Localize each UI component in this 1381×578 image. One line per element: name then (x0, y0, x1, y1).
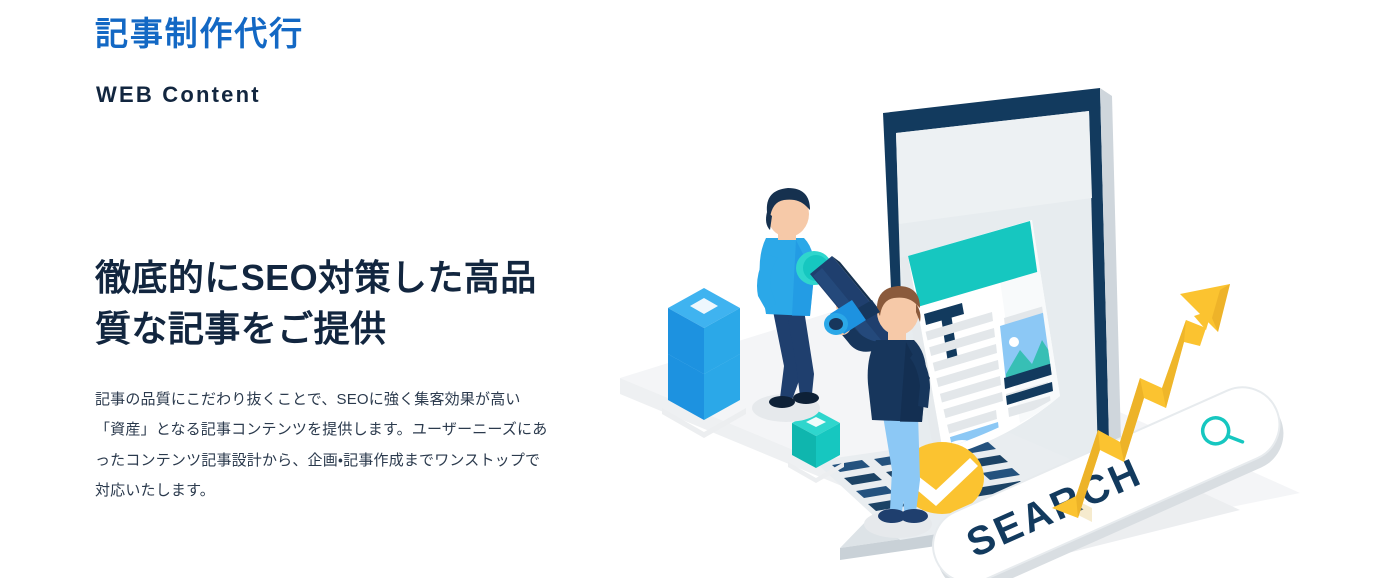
hero-illustration: SEARCH (600, 78, 1381, 578)
section-description: 記事の品質にこだわり抜くことで、SEOに強く集客効果が高い 「資産」となる記事コ… (95, 385, 600, 506)
headline-line-2: 質な記事をご提供 (95, 303, 595, 354)
section-eyebrow: 記事制作代行 (95, 14, 304, 54)
page-root: 記事制作代行 WEB Content 徹底的にSEO対策した高品 質な記事をご提… (0, 0, 1381, 566)
headline-line-1: 徹底的にSEO対策した高品 (95, 252, 595, 303)
blue-cube-icon (662, 288, 746, 438)
description-line-2: 「資産」となる記事コンテンツを提供します。ユーザーニーズにあ (95, 415, 600, 445)
page-title: 徹底的にSEO対策した高品 質な記事をご提供 (95, 252, 595, 354)
section-sub-eyebrow: WEB Content (96, 82, 261, 108)
description-line-3: ったコンテンツ記事設計から、企画・記事作成までワンストップで (95, 446, 600, 476)
description-line-4: 対応いたします。 (95, 476, 600, 506)
description-line-1: 記事の品質にこだわり抜くことで、SEOに強く集客効果が高い (95, 385, 600, 415)
seo-isometric-illustration: SEARCH (600, 78, 1381, 578)
hero-text-column: 記事制作代行 WEB Content 徹底的にSEO対策した高品 質な記事をご提… (95, 0, 615, 566)
